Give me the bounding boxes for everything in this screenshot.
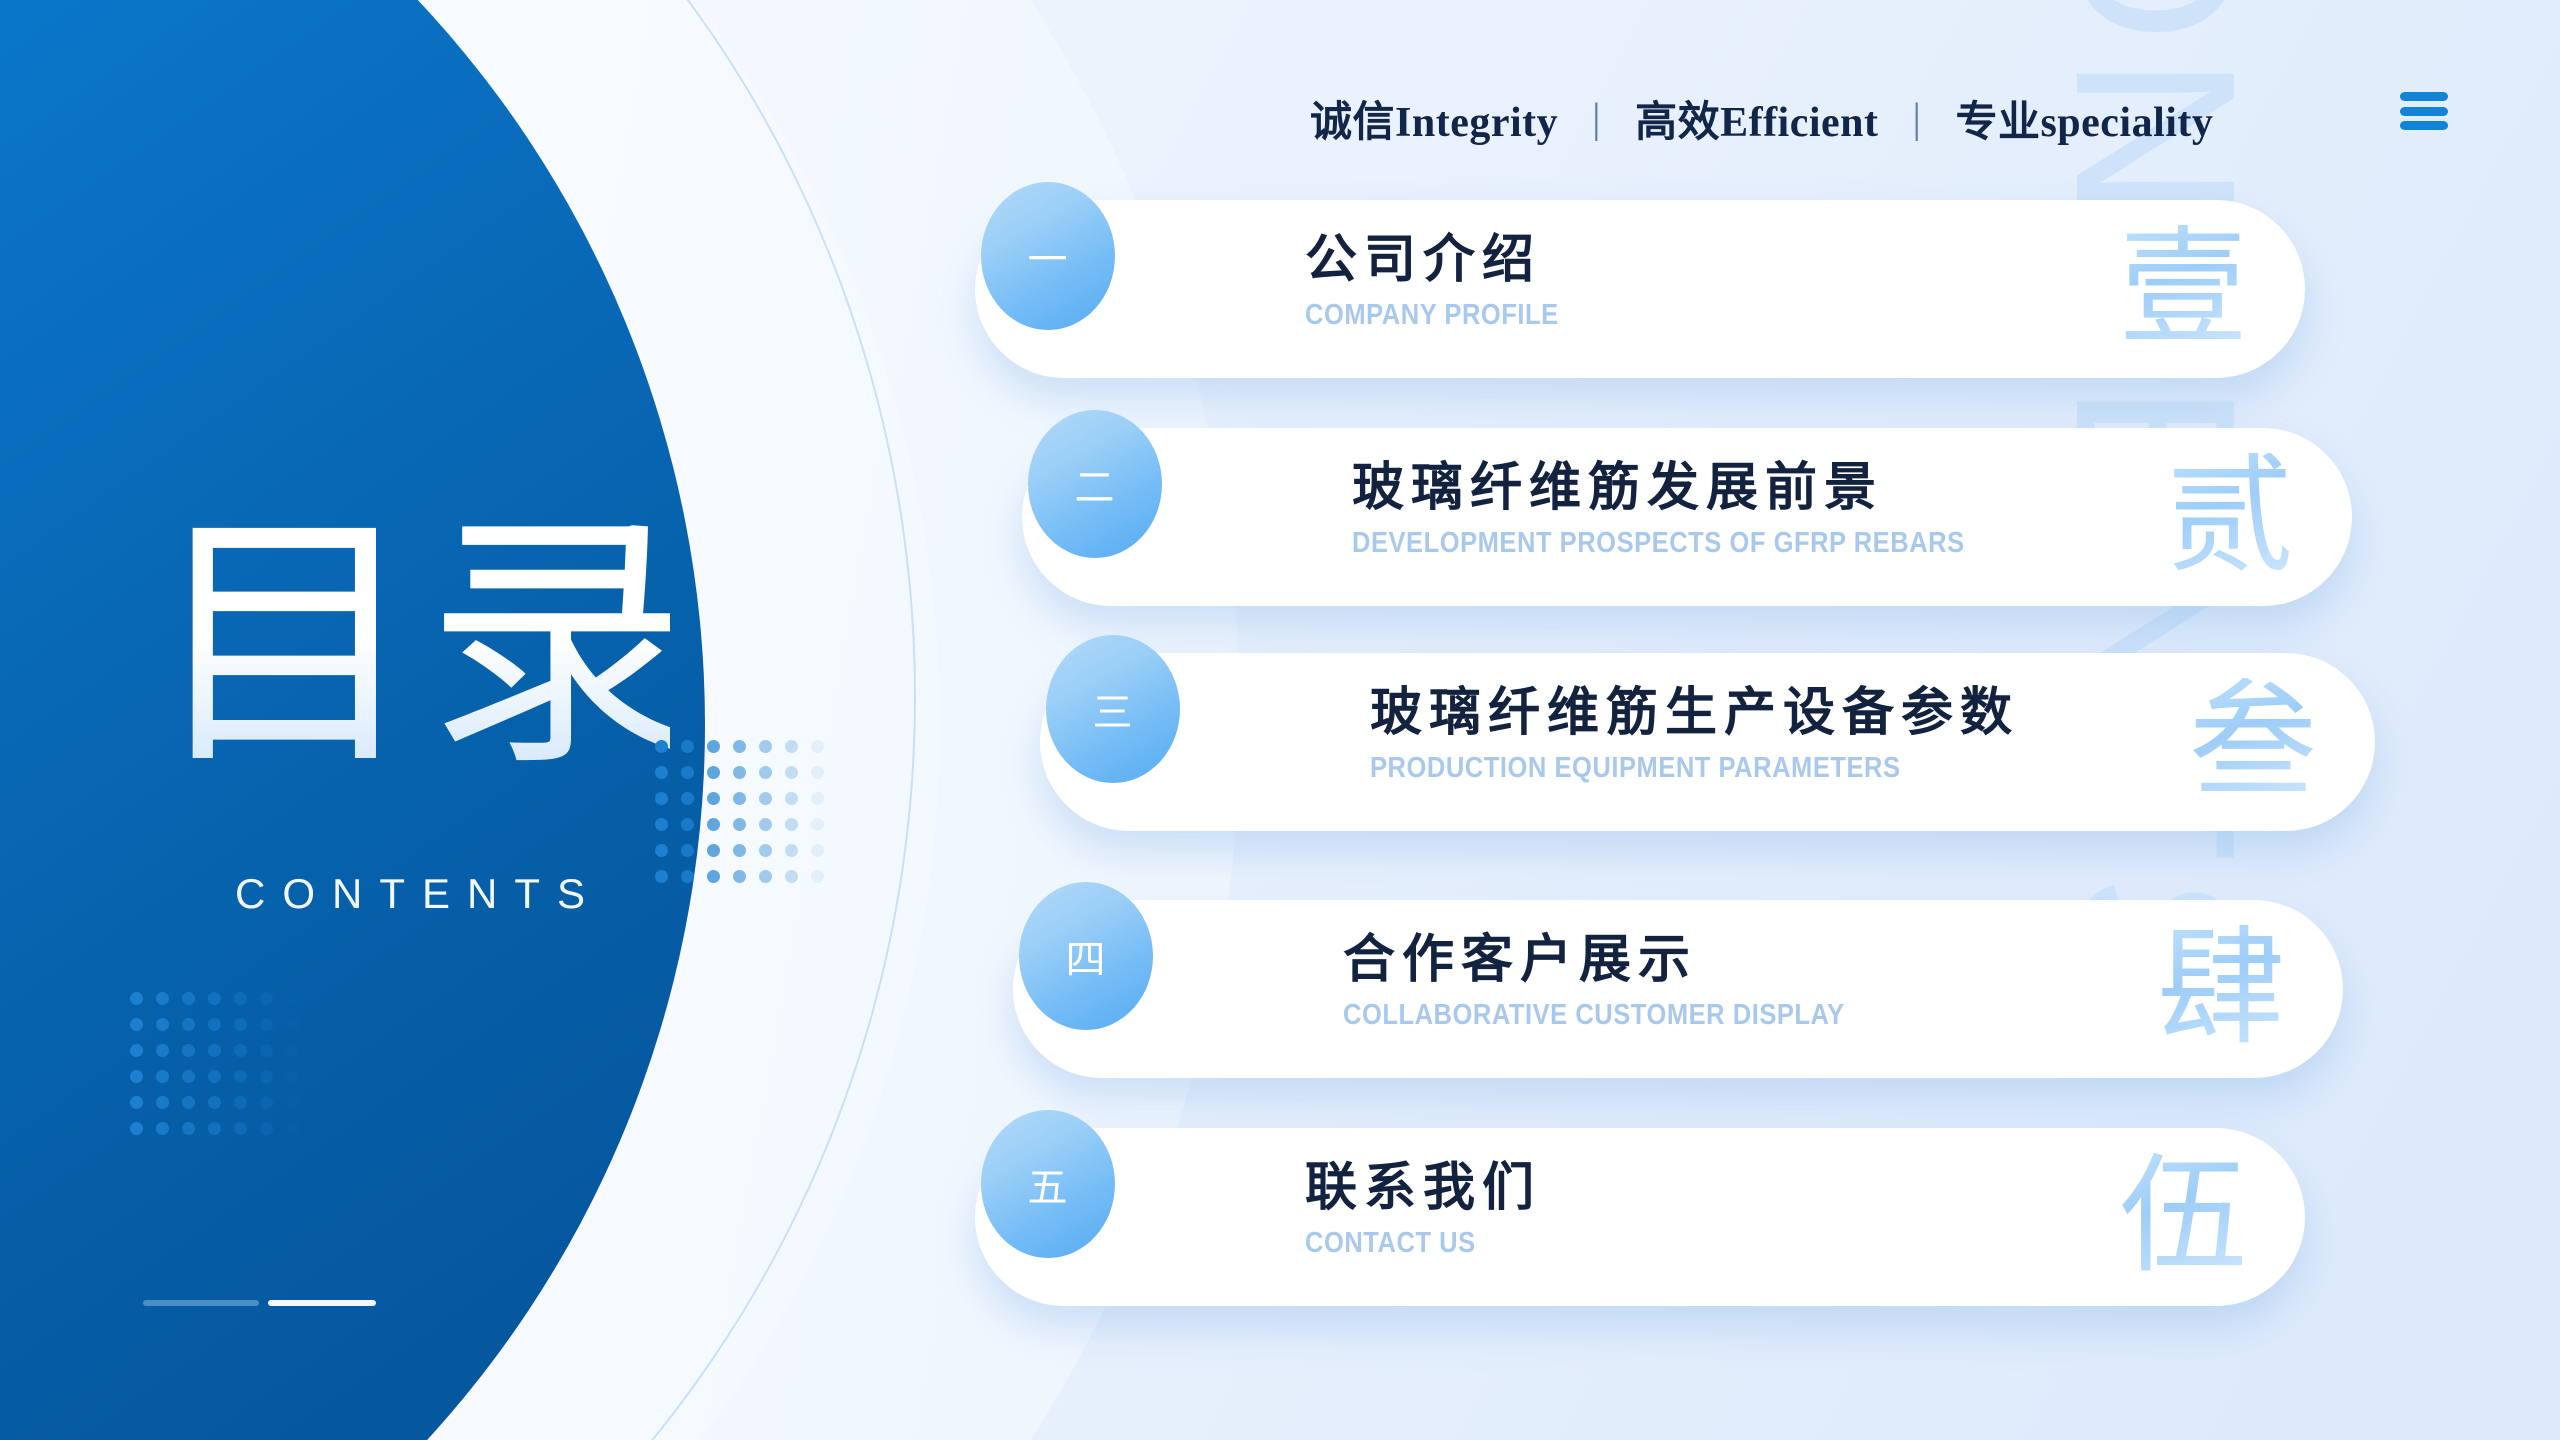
decorative-dot — [759, 740, 772, 753]
decorative-dot — [208, 1018, 221, 1031]
decorative-dot — [156, 992, 169, 1005]
decorative-dot — [733, 870, 746, 883]
decorative-dot — [234, 1096, 247, 1109]
decorative-dot — [182, 992, 195, 1005]
decorative-dot — [286, 1070, 299, 1083]
item-text-block: 联系我们 CONTACT US — [1305, 1158, 1541, 1260]
page-title-cn: 目录 — [150, 505, 670, 791]
decorative-dot — [811, 870, 824, 883]
decorative-dot — [733, 740, 746, 753]
decorative-dot — [707, 844, 720, 857]
contents-item-1[interactable]: 一 公司介绍 COMPANY PROFILE 壹 — [975, 200, 2305, 378]
decorative-dot — [260, 1096, 273, 1109]
item-title-en: CONTACT US — [1305, 1227, 1513, 1260]
decorative-dot — [286, 992, 299, 1005]
decorative-dot — [156, 1122, 169, 1135]
decorative-dot — [785, 818, 798, 831]
decorative-dot — [182, 1044, 195, 1057]
decorative-dot — [182, 1122, 195, 1135]
decorative-dot — [234, 1018, 247, 1031]
item-numeral: 壹 — [2119, 225, 2247, 353]
item-title-en: DEVELOPMENT PROSPECTS OF GFRP REBARS — [1352, 527, 1965, 560]
item-index-circle: 四 — [1019, 882, 1153, 1030]
decorative-dot — [733, 792, 746, 805]
decorative-dot — [681, 818, 694, 831]
header-slogans: 诚信Integrity | 高效Efficient | 专业speciality — [1310, 88, 2213, 149]
decorative-dot — [681, 844, 694, 857]
decorative-dot — [156, 1070, 169, 1083]
decorative-dot — [234, 992, 247, 1005]
decorative-dot — [286, 1096, 299, 1109]
decorative-dot — [681, 870, 694, 883]
decorative-dot — [655, 766, 668, 779]
decorative-dot — [260, 1122, 273, 1135]
slogan-efficient: 高效Efficient — [1635, 88, 1878, 149]
decorative-dot — [156, 1018, 169, 1031]
item-title-cn: 联系我们 — [1305, 1158, 1541, 1219]
decorative-dot — [182, 1018, 195, 1031]
item-title-cn: 合作客户展示 — [1343, 930, 1913, 991]
decorative-dot — [811, 844, 824, 857]
item-text-block: 合作客户展示 COLLABORATIVE CUSTOMER DISPLAY — [1343, 930, 1913, 1032]
decorative-dot — [234, 1044, 247, 1057]
decorative-dot — [759, 870, 772, 883]
item-index-circle: 五 — [981, 1110, 1115, 1258]
decorative-dot — [182, 1070, 195, 1083]
decorative-dot — [655, 792, 668, 805]
item-index-circle: 一 — [981, 182, 1115, 330]
decorative-dot — [130, 1122, 143, 1135]
decorative-dot — [759, 766, 772, 779]
decorative-dot — [733, 818, 746, 831]
slogan-separator-1: | — [1558, 95, 1635, 143]
decorative-dot — [707, 870, 720, 883]
decorative-dot — [655, 740, 668, 753]
decorative-dot — [260, 1044, 273, 1057]
item-numeral: 肆 — [2157, 925, 2285, 1053]
decorative-dot — [208, 1044, 221, 1057]
decorative-dot — [785, 844, 798, 857]
decorative-dot — [130, 992, 143, 1005]
page-title-en: CONTENTS — [150, 870, 670, 918]
hamburger-bar-3 — [2400, 121, 2448, 130]
decorative-dot — [785, 870, 798, 883]
hamburger-bar-1 — [2400, 92, 2448, 101]
decorative-dot — [234, 1070, 247, 1083]
decorative-dot — [182, 1096, 195, 1109]
item-title-en: COMPANY PROFILE — [1305, 299, 1559, 332]
item-title-en: PRODUCTION EQUIPMENT PARAMETERS — [1370, 752, 1941, 785]
item-index-circle: 二 — [1028, 410, 1162, 558]
decorative-dot — [681, 740, 694, 753]
item-text-block: 玻璃纤维筋生产设备参数 PRODUCTION EQUIPMENT PARAMET… — [1370, 683, 2019, 785]
decorative-dot — [811, 792, 824, 805]
item-text-block: 公司介绍 COMPANY PROFILE — [1305, 230, 1593, 332]
decorative-dot — [759, 844, 772, 857]
hamburger-bar-2 — [2400, 107, 2448, 116]
hamburger-menu-icon[interactable] — [2400, 92, 2448, 130]
decorative-dot — [707, 766, 720, 779]
contents-slide: CONTENTS 目录 CONTENTS 诚信Integrity | 高效Eff… — [0, 0, 2560, 1440]
decorative-dot — [208, 1096, 221, 1109]
decorative-dot — [733, 766, 746, 779]
item-index-label: 二 — [1075, 455, 1116, 513]
decorative-dot — [130, 1044, 143, 1057]
decorative-dot — [130, 1018, 143, 1031]
decorative-dot — [208, 1122, 221, 1135]
decorative-dot — [681, 766, 694, 779]
decorative-dot — [130, 1096, 143, 1109]
decorative-dot — [707, 792, 720, 805]
decorative-dot — [759, 792, 772, 805]
item-numeral: 叁 — [2189, 678, 2317, 806]
decorative-dot — [260, 1018, 273, 1031]
decorative-dot — [156, 1044, 169, 1057]
slogan-integrity: 诚信Integrity — [1310, 88, 1558, 149]
slogan-separator-2: | — [1879, 95, 1956, 143]
decorative-dot — [130, 1070, 143, 1083]
item-index-label: 四 — [1066, 927, 1107, 985]
decorative-dot — [156, 1096, 169, 1109]
decorative-dot — [286, 1044, 299, 1057]
item-numeral: 贰 — [2166, 453, 2294, 581]
decorative-dot — [208, 992, 221, 1005]
item-index-label: 一 — [1028, 227, 1069, 285]
decorative-dot — [785, 766, 798, 779]
decorative-dot — [733, 844, 746, 857]
contents-item-2[interactable]: 二 玻璃纤维筋发展前景 DEVELOPMENT PROSPECTS OF GFR… — [1022, 428, 2352, 606]
decorative-dot — [681, 792, 694, 805]
decorative-dot — [234, 1122, 247, 1135]
decorative-dot — [260, 1070, 273, 1083]
decorative-dot — [286, 1122, 299, 1135]
item-index-circle: 三 — [1046, 635, 1180, 783]
item-index-label: 五 — [1028, 1155, 1069, 1213]
decorative-dot — [208, 1070, 221, 1083]
decorative-dot — [811, 766, 824, 779]
contents-item-4[interactable]: 四 合作客户展示 COLLABORATIVE CUSTOMER DISPLAY … — [1013, 900, 2343, 1078]
item-title-cn: 玻璃纤维筋生产设备参数 — [1370, 683, 2019, 744]
item-title-cn: 公司介绍 — [1305, 230, 1593, 291]
contents-item-5[interactable]: 五 联系我们 CONTACT US 伍 — [975, 1128, 2305, 1306]
slogan-speciality: 专业speciality — [1955, 88, 2213, 149]
decorative-dot — [286, 1018, 299, 1031]
left-panel: 目录 CONTENTS — [0, 0, 830, 1440]
decorative-dot — [655, 844, 668, 857]
decorative-dot — [655, 870, 668, 883]
decorative-dot — [707, 818, 720, 831]
decorative-dot — [811, 818, 824, 831]
progress-bar-active[interactable] — [268, 1300, 376, 1306]
decorative-dot — [785, 740, 798, 753]
item-title-en: COLLABORATIVE CUSTOMER DISPLAY — [1343, 999, 1845, 1032]
decorative-dot — [811, 740, 824, 753]
item-numeral: 伍 — [2119, 1153, 2247, 1281]
decorative-dot — [655, 818, 668, 831]
decorative-dot — [785, 792, 798, 805]
decorative-dot — [707, 740, 720, 753]
item-index-label: 三 — [1093, 680, 1134, 738]
item-title-cn: 玻璃纤维筋发展前景 — [1352, 458, 2048, 519]
decorative-dot — [759, 818, 772, 831]
contents-item-3[interactable]: 三 玻璃纤维筋生产设备参数 PRODUCTION EQUIPMENT PARAM… — [1040, 653, 2375, 831]
decorative-dot — [260, 992, 273, 1005]
progress-bar-inactive[interactable] — [143, 1300, 259, 1306]
item-text-block: 玻璃纤维筋发展前景 DEVELOPMENT PROSPECTS OF GFRP … — [1352, 458, 2048, 560]
